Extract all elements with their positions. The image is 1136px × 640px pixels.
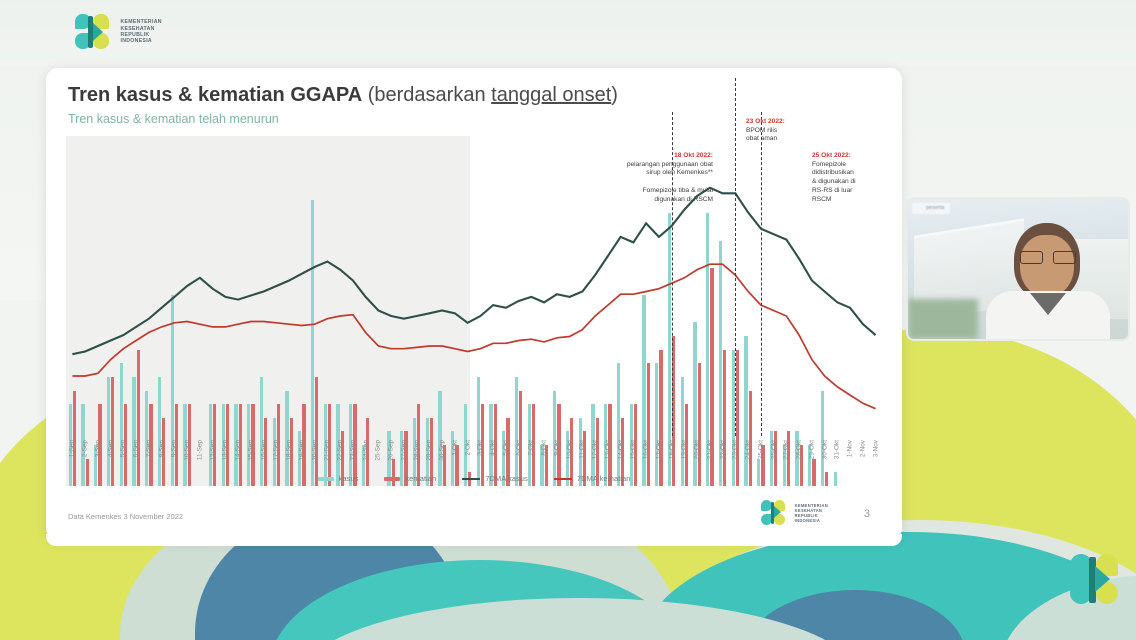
legend-label: kasus bbox=[339, 474, 359, 483]
annotation-line: Fomepizole bbox=[812, 161, 874, 170]
legend-swatch bbox=[384, 477, 400, 481]
annotation-25-okt: 25 Okt 2022:Fomepizoledidistribusikan& d… bbox=[812, 152, 874, 204]
annotation-line: sirup oleh Kemenkes** bbox=[591, 169, 713, 178]
x-axis-tick-label: 7-Okt bbox=[528, 440, 535, 456]
glasses-icon bbox=[1020, 251, 1076, 264]
x-axis-tick-label: 29-Sep bbox=[426, 440, 433, 461]
x-axis-tick-label: 18-Okt bbox=[668, 440, 675, 459]
x-axis-tick-label: 29-Okt bbox=[808, 440, 815, 459]
x-axis-tick-label: 8-Okt bbox=[541, 440, 548, 456]
x-axis-tick-label: 4-Okt bbox=[490, 440, 497, 456]
slide-title: Tren kasus & kematian GGAPA (berdasarkan… bbox=[68, 84, 618, 107]
video-participant-tile[interactable]: peserta bbox=[908, 199, 1128, 339]
annotation-line: digunakan di RSCM bbox=[591, 196, 713, 205]
x-axis-tick-label: 26-Sep bbox=[388, 440, 395, 461]
legend-item: 7DMA kasus bbox=[462, 474, 528, 483]
presentation-slide: Tren kasus & kematian GGAPA (berdasarkan… bbox=[46, 68, 902, 540]
x-axis-tick-label: 15-Okt bbox=[630, 440, 637, 459]
x-axis-tick-label: 17-Okt bbox=[655, 440, 662, 459]
annotation-line: Fomepizole tiba & mulai bbox=[591, 187, 713, 196]
x-axis-tick-label: 13-Okt bbox=[604, 440, 611, 459]
event-marker-line-3 bbox=[761, 112, 762, 436]
x-axis-tick-label: 2-Sep bbox=[82, 440, 89, 457]
x-axis-tick-label: 3-Okt bbox=[477, 440, 484, 456]
x-axis-tick-label: 6-Sep bbox=[133, 440, 140, 457]
x-axis-tick-label: 2-Nov bbox=[859, 440, 866, 457]
annotation-date: 25 Okt 2022: bbox=[812, 152, 851, 159]
event-marker-line-2 bbox=[735, 78, 736, 436]
x-axis-tick-label: 12-Sep bbox=[209, 440, 216, 461]
logo-text-line-3: INDONESIA bbox=[120, 38, 161, 44]
video-foliage bbox=[908, 299, 978, 339]
x-axis-tick-label: 10-Okt bbox=[566, 440, 573, 459]
x-axis-tick-label: 25-Sep bbox=[375, 440, 382, 461]
header-band: KEMENTERIANKESEHATANREPUBLIKINDONESIA bbox=[0, 0, 1136, 66]
legend-item: kasus bbox=[318, 474, 359, 483]
annotation-line: RS-RS di luar bbox=[812, 187, 874, 196]
logo-text-line-3: INDONESIA bbox=[795, 518, 828, 523]
legend-swatch bbox=[318, 477, 334, 481]
chart-legend: kasuskematian7DMA kasus7DMA kematian bbox=[46, 474, 902, 483]
x-axis-tick-label: 24-Sep bbox=[362, 440, 369, 461]
corner-kemenkes-logo-mark bbox=[1068, 554, 1120, 606]
legend-item: kematian bbox=[384, 474, 436, 483]
video-participant-name: peserta bbox=[912, 203, 950, 214]
annotation-line: pelarangan penggunaan obat bbox=[591, 161, 713, 170]
x-axis-tick-label: 27-Okt bbox=[783, 440, 790, 459]
logo-chevron bbox=[93, 23, 103, 41]
x-axis-tick-label: 18-Sep bbox=[286, 440, 293, 461]
x-axis-tick-label: 23-Sep bbox=[349, 440, 356, 461]
x-axis-tick-label: 5-Sep bbox=[120, 440, 127, 457]
kemenkes-logo-mark bbox=[74, 14, 110, 50]
x-axis-tick-label: 2-Okt bbox=[464, 440, 471, 456]
x-axis-tick-label: 28-Sep bbox=[413, 440, 420, 461]
legend-swatch bbox=[462, 478, 480, 480]
legend-swatch bbox=[554, 478, 572, 480]
chart-trend-lines bbox=[66, 136, 882, 436]
x-axis-tick-label: 9-Okt bbox=[553, 440, 560, 456]
x-axis-tick-label: 5-Okt bbox=[502, 440, 509, 456]
legend-item: 7DMA kematian bbox=[554, 474, 631, 483]
x-axis-tick-label: 16-Sep bbox=[260, 440, 267, 461]
x-axis-tick-label: 30-Sep bbox=[439, 440, 446, 461]
x-axis-tick-label: 9-Sep bbox=[171, 440, 178, 457]
legend-label: 7DMA kasus bbox=[485, 474, 528, 483]
x-axis-tick-label: 30-Okt bbox=[821, 440, 828, 459]
logo-chevron bbox=[1095, 566, 1110, 592]
x-axis-tick-label: 3-Nov bbox=[872, 440, 879, 457]
x-axis-tick-label: 20-Sep bbox=[311, 440, 318, 461]
x-axis-tick-label: 4-Sep bbox=[107, 440, 114, 457]
x-axis-tick-label: 23-Okt bbox=[732, 440, 739, 459]
annotation-line: didistribusikan bbox=[812, 169, 874, 178]
slide-title-plain-open: (berdasarkan bbox=[362, 84, 491, 106]
slide-logo-text: KEMENTERIANKESEHATANREPUBLIKINDONESIA bbox=[795, 503, 828, 523]
slide-kemenkes-logo: KEMENTERIANKESEHATANREPUBLIKINDONESIA bbox=[760, 500, 828, 526]
line-7dma-kasus bbox=[72, 188, 875, 354]
annotation-spacer bbox=[591, 178, 713, 187]
x-axis-tick-label: 19-Okt bbox=[681, 440, 688, 459]
x-axis-tick-label: 6-Okt bbox=[515, 440, 522, 456]
x-axis-tick-label: 14-Okt bbox=[617, 440, 624, 459]
x-axis-tick-label: 3-Sep bbox=[94, 440, 101, 457]
annotation-18-okt: 18 Okt 2022:pelarangan penggunaan obatsi… bbox=[591, 152, 713, 204]
x-axis-tick-label: 13-Sep bbox=[222, 440, 229, 461]
annotation-line: RSCM bbox=[812, 196, 874, 205]
x-axis-tick-label: 31-Okt bbox=[834, 440, 841, 459]
slide-page-number: 3 bbox=[864, 508, 870, 520]
x-axis-tick-label: 17-Sep bbox=[273, 440, 280, 461]
x-axis-tick-label: 27-Sep bbox=[400, 440, 407, 461]
x-axis-tick-label: 8-Sep bbox=[158, 440, 165, 457]
x-axis-tick-label: 22-Okt bbox=[719, 440, 726, 459]
slide-title-plain-close: ) bbox=[611, 84, 618, 106]
logo-chevron bbox=[774, 506, 781, 518]
x-axis-tick-label: 11-Sep bbox=[196, 440, 203, 460]
x-axis-tick-label: 20-Okt bbox=[694, 440, 701, 459]
annotation-date: 18 Okt 2022: bbox=[674, 152, 713, 159]
x-axis-tick-label: 15-Sep bbox=[247, 440, 254, 461]
x-axis-tick-label: 26-Okt bbox=[770, 440, 777, 459]
x-axis-tick-label: 25-Okt bbox=[757, 440, 764, 459]
x-axis-tick-label: 21-Okt bbox=[706, 440, 713, 459]
legend-label: 7DMA kematian bbox=[577, 474, 631, 483]
line-7dma-kematian bbox=[72, 264, 875, 409]
x-axis-tick-label: 21-Sep bbox=[324, 440, 331, 461]
annotation-line: obat aman bbox=[746, 135, 816, 144]
kemenkes-logo-text: KEMENTERIANKESEHATANREPUBLIKINDONESIA bbox=[120, 19, 161, 45]
x-axis-tick-label: 19-Sep bbox=[298, 440, 305, 461]
x-axis-tick-label: 28-Okt bbox=[796, 440, 803, 459]
slide-logo-mark bbox=[760, 500, 786, 526]
slide-title-bold: Tren kasus & kematian GGAPA bbox=[68, 84, 362, 106]
x-axis-tick-label: 22-Sep bbox=[337, 440, 344, 461]
slide-title-underlined: tanggal onset bbox=[491, 84, 611, 106]
x-axis-tick-label: 12-Okt bbox=[592, 440, 599, 459]
annotation-23-okt: 23 Okt 2022:BPOM rilisobat aman bbox=[746, 118, 816, 144]
x-axis-tick-label: 10-Sep bbox=[184, 440, 191, 461]
x-axis-tick-label: 1-Nov bbox=[847, 440, 854, 457]
kemenkes-logo: KEMENTERIANKESEHATANREPUBLIKINDONESIA bbox=[74, 14, 162, 50]
x-axis-tick-label: 14-Sep bbox=[235, 440, 242, 461]
annotation-date: 23 Okt 2022: bbox=[746, 118, 785, 125]
slide-footnote: Data Kemenkes 3 November 2022 bbox=[68, 512, 183, 521]
annotation-line: & digunakan di bbox=[812, 178, 874, 187]
annotation-line: BPOM rilis bbox=[746, 127, 816, 136]
slide-subtitle: Tren kasus & kematian telah menurun bbox=[68, 112, 279, 126]
x-axis-tick-label: 7-Sep bbox=[145, 440, 152, 457]
x-axis-tick-label: 11-Okt bbox=[579, 440, 586, 459]
slide-bottom-edge bbox=[46, 534, 902, 546]
x-axis-tick-label: 1-Okt bbox=[451, 440, 458, 456]
x-axis-tick-label: 24-Okt bbox=[745, 440, 752, 459]
video-person-face bbox=[1020, 235, 1074, 297]
x-axis-tick-label: 16-Okt bbox=[643, 440, 650, 459]
chart-area: 1-Sep2-Sep3-Sep4-Sep5-Sep6-Sep7-Sep8-Sep… bbox=[66, 136, 882, 486]
legend-label: kematian bbox=[405, 474, 436, 483]
x-axis-tick-label: 1-Sep bbox=[69, 440, 76, 457]
logo-text-line-0: KEMENTERIAN bbox=[120, 19, 161, 25]
